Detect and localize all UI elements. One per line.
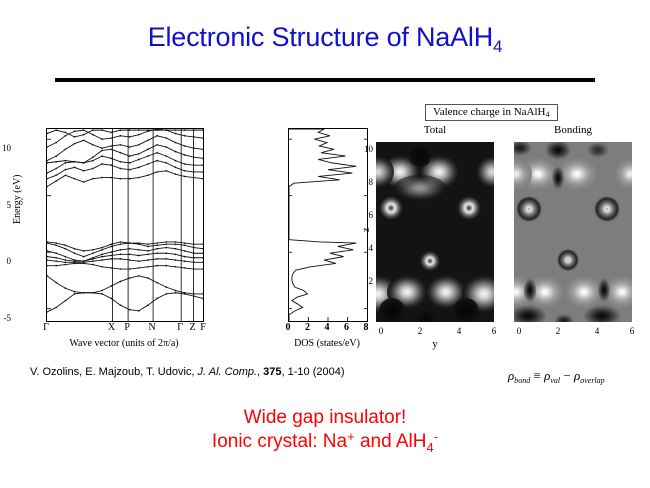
band-kpoint-n: N — [148, 322, 155, 333]
charge-z-tick-4: 4 — [369, 243, 374, 253]
charge-y-tick-2-left: 2 — [418, 326, 423, 336]
charge-y-tick-2-right: 2 — [556, 326, 561, 336]
page-title-text: Electronic Structure of NaAlH — [148, 22, 493, 52]
dos-x-axis-title: DOS (states/eV) — [294, 338, 360, 349]
charge-y-tick-6-right: 6 — [630, 326, 635, 336]
dos-svg — [289, 129, 367, 321]
band-y-tick-10: 10 — [2, 143, 11, 153]
band-structure-panel: Energy (eV) — [14, 108, 224, 358]
charge-y-tick-4-right: 4 — [595, 326, 600, 336]
citation: V. Ozolins, E. Majzoub, T. Udovic, J. Al… — [30, 366, 345, 378]
charge-z-axis-title: z — [361, 228, 372, 232]
charge-density-title-box: Valence charge in NaAlH4 — [425, 104, 558, 121]
band-y-tick-5: 5 — [7, 200, 12, 210]
charge-y-tick-6-left: 6 — [492, 326, 497, 336]
charge-density-panel: Valence charge in NaAlH4 Total Bonding z… — [362, 100, 650, 360]
dos-x-tick-4: 4 — [325, 322, 330, 333]
dos-x-tick-0: 0 — [286, 322, 291, 333]
dos-plot — [288, 128, 368, 322]
citation-authors: V. Ozolins, E. Majzoub, T. Udovic, — [30, 366, 198, 378]
charge-density-title-text: Valence charge in NaAlH — [433, 106, 546, 118]
charge-z-tick-8: 8 — [369, 177, 374, 187]
formula-sub-val: val — [550, 376, 560, 385]
formula-sub-overlap: overlap — [580, 376, 604, 385]
title-divider — [55, 78, 595, 82]
charge-z-tick-2: 2 — [369, 276, 374, 286]
density-map-total — [376, 142, 494, 322]
bonding-charge-formula: ρbond ≡ ρval − ρoverlap — [508, 368, 605, 384]
conclusion-text: Wide gap insulator! Ionic crystal: Na+ a… — [0, 406, 650, 455]
page-title-subscript: 4 — [493, 37, 502, 56]
density-map-bonding-svg — [514, 142, 632, 322]
conclusion-line2-a: Ionic crystal: Na — [212, 431, 347, 452]
band-kpoint-z: Z — [190, 322, 196, 333]
citation-volume: 375 — [263, 366, 281, 378]
charge-y-tick-0-left: 0 — [379, 326, 384, 336]
band-y-axis-title: Energy (eV) — [12, 174, 23, 224]
density-map-bonding — [514, 142, 632, 322]
conclusion-line-2: Ionic crystal: Na+ and AlH4- — [0, 430, 650, 455]
charge-z-tick-10: 10 — [364, 144, 373, 154]
charge-label-total: Total — [424, 124, 446, 136]
conclusion-line2-b: and AlH — [355, 431, 427, 452]
dos-x-tick-2: 2 — [305, 322, 310, 333]
charge-label-bonding: Bonding — [554, 124, 592, 136]
band-x-axis-title: Wave vector (units of 2π/a) — [69, 338, 178, 349]
density-map-total-svg — [376, 142, 494, 322]
charge-y-tick-4-left: 4 — [457, 326, 462, 336]
formula-minus: − — [560, 368, 574, 383]
conclusion-na-charge: + — [347, 429, 355, 444]
band-y-tick-neg5: -5 — [4, 313, 12, 323]
band-kpoint-p: P — [124, 322, 130, 333]
charge-y-tick-0-right: 0 — [517, 326, 522, 336]
charge-z-tick-6: 6 — [369, 210, 374, 220]
slide-canvas: Electronic Structure of NaAlH4 Energy (e… — [0, 0, 650, 488]
charge-y-axis-title-left: y — [432, 338, 438, 350]
citation-pages: , 1-10 (2004) — [282, 366, 345, 378]
charge-density-title-subscript: 4 — [546, 110, 550, 119]
band-kpoint-f: F — [200, 322, 206, 333]
band-kpoint-x: X — [108, 322, 115, 333]
band-kpoint-gamma-2: Γ — [177, 322, 183, 333]
page-title: Electronic Structure of NaAlH4 — [0, 22, 650, 53]
band-structure-plot — [46, 128, 204, 322]
dos-x-tick-6: 6 — [344, 322, 349, 333]
citation-journal: J. Al. Comp. — [198, 366, 258, 378]
formula-sub-bond: bond — [514, 376, 530, 385]
figure-group: Energy (eV) — [0, 100, 650, 360]
conclusion-alh4-charge: - — [434, 429, 438, 444]
band-y-tick-0: 0 — [7, 256, 12, 266]
conclusion-line-1: Wide gap insulator! — [0, 406, 650, 430]
band-structure-svg — [47, 129, 203, 321]
formula-equiv: ≡ — [530, 368, 544, 383]
band-kpoint-gamma-1: Γ — [43, 322, 49, 333]
conclusion-alh4-subscript: 4 — [427, 440, 434, 455]
